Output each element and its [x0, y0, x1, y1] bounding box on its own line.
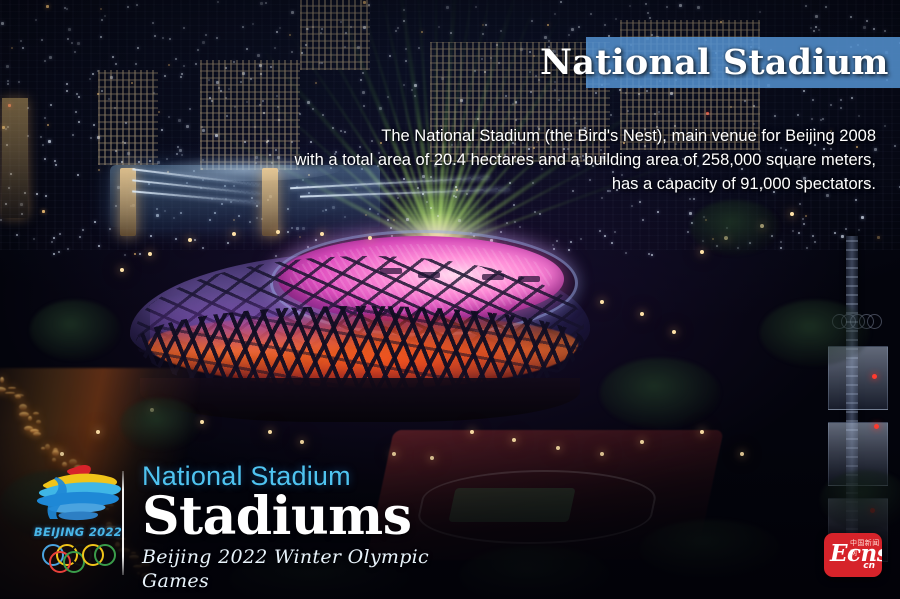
- lockup-text-group: National Stadium Stadiums Beijing 2022 W…: [142, 461, 442, 593]
- stadium-base-shadow: [140, 378, 580, 422]
- beijing-2022-emblem: BEIJING 2022: [30, 461, 126, 579]
- office-building-grid-c: [300, 0, 370, 70]
- brand-lockup: BEIJING 2022 National Stadium Stadiums B…: [24, 461, 444, 581]
- ecns-suffix-text: cn: [863, 561, 875, 571]
- description-block: The National Stadium (the Bird's Nest), …: [116, 124, 876, 196]
- lockup-event-name: Beijing 2022 Winter Olympic Games: [142, 545, 442, 593]
- lockup-category: Stadiums: [142, 489, 442, 544]
- page-title: National Stadium: [540, 34, 895, 90]
- poster-canvas: National Stadium The National Stadium (t…: [0, 0, 900, 599]
- tower-warning-light-b: [874, 424, 879, 429]
- practice-pitch: [448, 488, 575, 522]
- emblem-wordmark: BEIJING 2022: [30, 525, 126, 539]
- description-line-2: with a total area of 20.4 hectares and a…: [116, 148, 876, 172]
- lockup-divider: [122, 471, 124, 575]
- description-line-3: has a capacity of 91,000 spectators.: [116, 172, 876, 196]
- lit-tower-left: [2, 98, 28, 218]
- tower-warning-light-a: [872, 374, 877, 379]
- description-line-1: The National Stadium (the Bird's Nest), …: [116, 124, 876, 148]
- emblem-ribbon-icon: [32, 463, 124, 525]
- ecns-logo[interactable]: 中国新闻网 Ecns cn: [824, 533, 882, 577]
- olympic-rings-icon: [42, 544, 114, 570]
